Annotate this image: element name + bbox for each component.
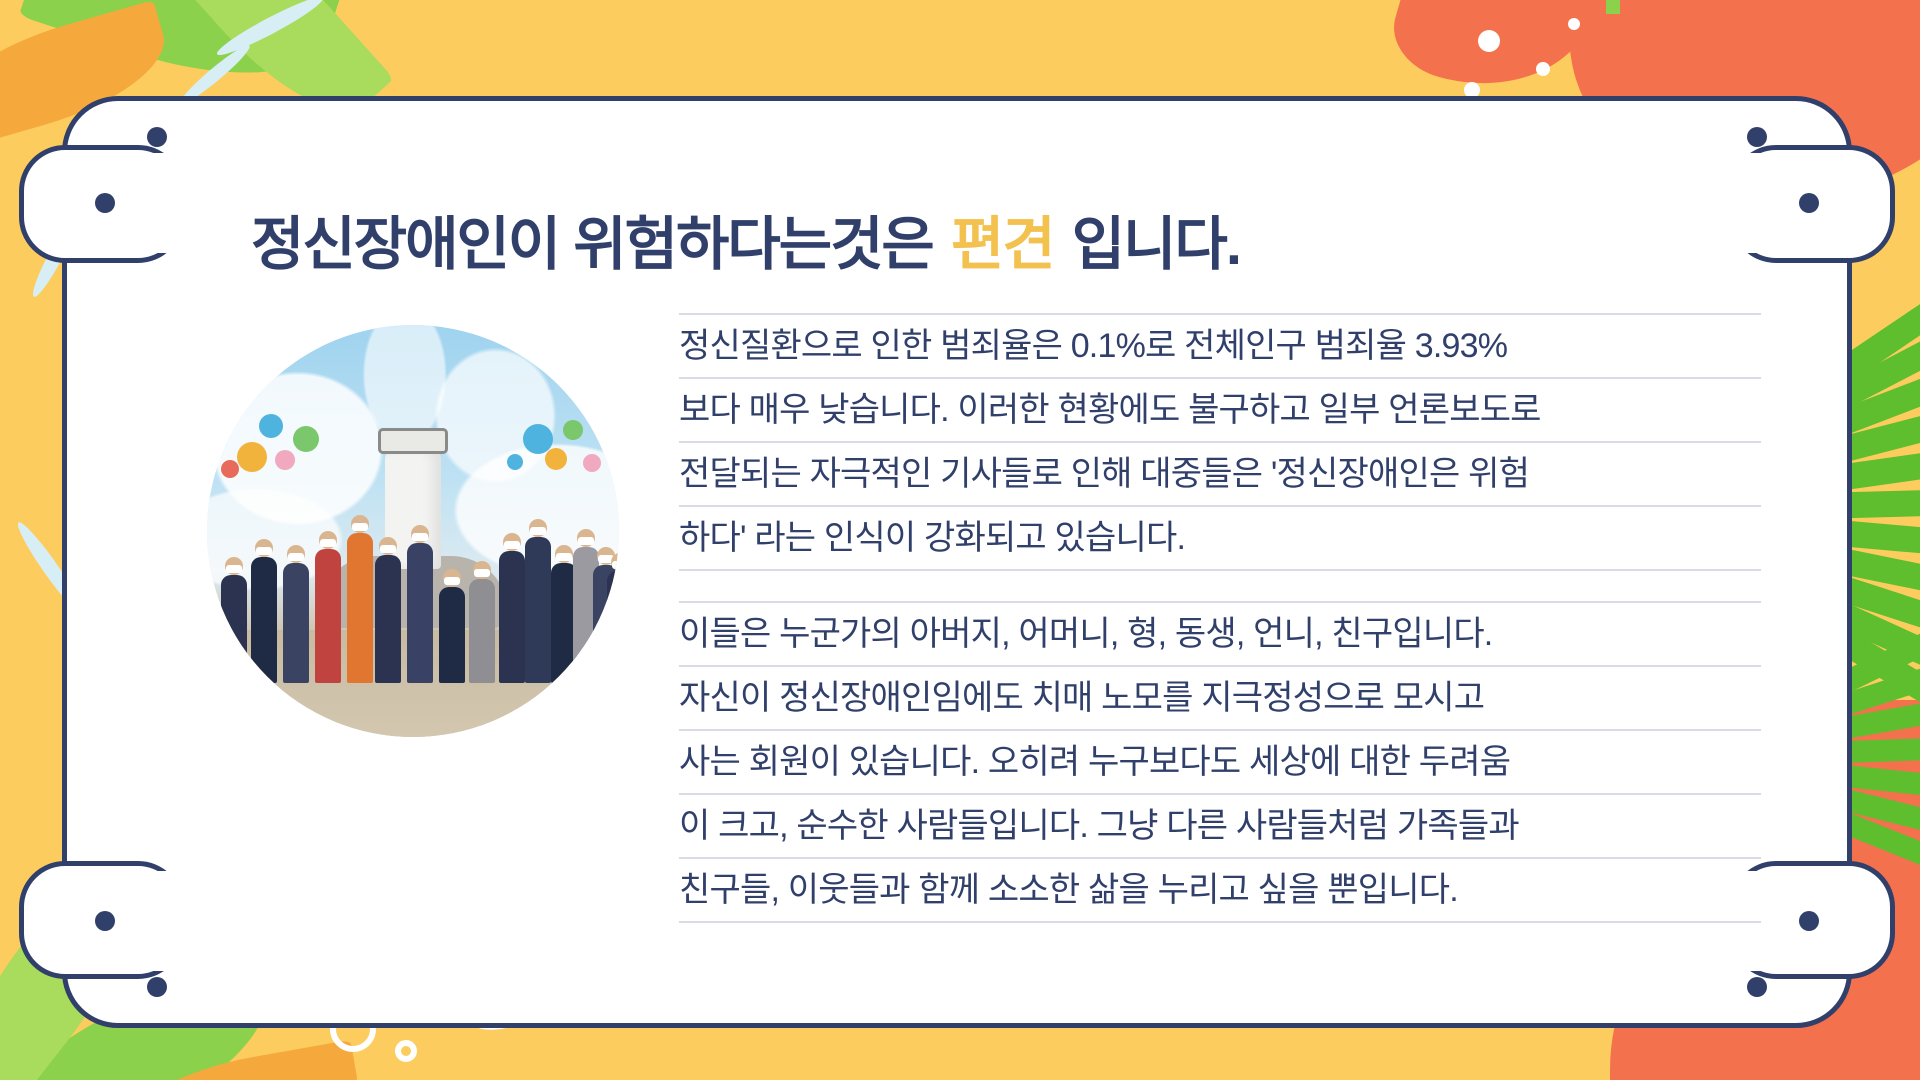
content-row: 정신질환으로 인한 범죄율은 0.1%로 전체인구 범죄율 3.93% 보다 매…	[207, 309, 1761, 923]
decor-green-square	[1606, 0, 1620, 14]
paragraph-1-line-2: 보다 매우 낮습니다. 이러한 현황에도 불구하고 일부 언론보도로	[679, 377, 1761, 441]
paragraph-2-line-5: 친구들, 이웃들과 함께 소소한 삶을 누리고 싶을 뿐입니다.	[679, 857, 1761, 923]
screw-dot-top-left-upper	[147, 127, 167, 147]
face-mask-icon	[412, 533, 428, 541]
face-mask-icon	[578, 537, 594, 545]
screw-dot-top-right-lower	[1799, 193, 1819, 213]
balloon-icon	[237, 442, 267, 472]
balloon-icon	[563, 420, 583, 440]
paragraph-spacer	[679, 571, 1761, 601]
leaf-icon-top-left-1	[19, 0, 341, 108]
leaf-icon-top-left-4	[226, 0, 414, 12]
paragraph-1-line-4: 하다' 라는 인식이 강화되고 있습니다.	[679, 505, 1761, 571]
decor-white-dot-1	[1478, 30, 1500, 52]
screw-dot-top-right-upper	[1747, 127, 1767, 147]
paragraph-2-line-3: 사는 회원이 있습니다. 오히려 누구보다도 세상에 대한 두려움	[679, 729, 1761, 793]
photo-person	[375, 555, 401, 683]
card-content: 정신장애인이 위험하다는것은 편견 입니다. 정신질환으로 인한 범죄율은 0.…	[67, 101, 1847, 1023]
paragraph-1: 정신질환으로 인한 범죄율은 0.1%로 전체인구 범죄율 3.93% 보다 매…	[679, 313, 1761, 571]
face-mask-icon	[288, 553, 304, 561]
screw-dot-bottom-left-upper	[95, 911, 115, 931]
face-mask-icon	[352, 523, 368, 531]
photo-people-group	[207, 494, 619, 684]
balloon-icon	[545, 448, 567, 470]
decor-brush-stroke-1	[213, 0, 326, 61]
body-text-column: 정신질환으로 인한 범죄율은 0.1%로 전체인구 범죄율 3.93% 보다 매…	[679, 309, 1761, 923]
paragraph-2-line-2: 자신이 정신장애인임에도 치매 노모를 지극정성으로 모시고	[679, 665, 1761, 729]
photo-person	[525, 537, 551, 683]
photo-person	[499, 551, 525, 683]
balloon-icon	[507, 454, 523, 470]
face-mask-icon	[612, 561, 619, 569]
screw-dot-top-left-lower	[95, 193, 115, 213]
balloon-icon	[259, 414, 283, 438]
page-title: 정신장애인이 위험하다는것은 편견 입니다.	[251, 197, 1761, 281]
paragraph-1-line-1: 정신질환으로 인한 범죄율은 0.1%로 전체인구 범죄율 3.93%	[679, 313, 1761, 377]
photo-person	[347, 533, 373, 683]
balloon-icon	[293, 426, 319, 452]
face-mask-icon	[556, 553, 572, 561]
leaf-icon-bottom-left-3	[114, 1040, 366, 1080]
photo-person	[221, 575, 247, 683]
lighthouse-lantern-room	[378, 428, 448, 454]
photo-person	[607, 571, 619, 683]
screw-dot-bottom-right-lower	[1747, 977, 1767, 997]
paragraph-1-line-3: 전달되는 자극적인 기사들로 인해 대중들은 '정신장애인은 위험	[679, 441, 1761, 505]
face-mask-icon	[530, 527, 546, 535]
photo-person	[251, 557, 277, 683]
balloon-icon	[221, 460, 239, 478]
face-mask-icon	[320, 539, 336, 547]
face-mask-icon	[444, 577, 460, 585]
headline-text-after: 입니다.	[1072, 212, 1240, 277]
photo-person	[439, 587, 465, 683]
screw-dot-bottom-left-lower	[147, 977, 167, 997]
photo-person	[407, 543, 433, 683]
photo-person	[315, 549, 341, 683]
paragraph-2: 이들은 누군가의 아버지, 어머니, 형, 동생, 언니, 친구입니다. 자신이…	[679, 601, 1761, 923]
headline-text-before: 정신장애인이 위험하다는것은	[251, 212, 933, 277]
photo-person	[283, 563, 309, 683]
headline-highlight-word: 편견	[947, 212, 1058, 277]
face-mask-icon	[504, 541, 520, 549]
photo-person	[469, 579, 495, 683]
balloon-icon	[583, 454, 601, 472]
face-mask-icon	[256, 547, 272, 555]
decor-white-dot-3	[1568, 18, 1580, 30]
face-mask-icon	[226, 565, 242, 573]
group-photo	[207, 325, 619, 737]
face-mask-icon	[380, 545, 396, 553]
decor-white-dot-2	[1536, 62, 1550, 76]
poster-canvas: 정신장애인이 위험하다는것은 편견 입니다. 정신질환으로 인한 범죄율은 0.…	[0, 0, 1920, 1080]
decor-white-ring-3	[395, 1040, 417, 1062]
screw-dot-bottom-right-upper	[1799, 911, 1819, 931]
face-mask-icon	[474, 569, 490, 577]
paragraph-2-line-4: 이 크고, 순수한 사람들입니다. 그냥 다른 사람들처럼 가족들과	[679, 793, 1761, 857]
content-card: 정신장애인이 위험하다는것은 편견 입니다. 정신질환으로 인한 범죄율은 0.…	[62, 96, 1852, 1028]
balloon-icon	[275, 450, 295, 470]
paragraph-2-line-1: 이들은 누군가의 아버지, 어머니, 형, 동생, 언니, 친구입니다.	[679, 601, 1761, 665]
